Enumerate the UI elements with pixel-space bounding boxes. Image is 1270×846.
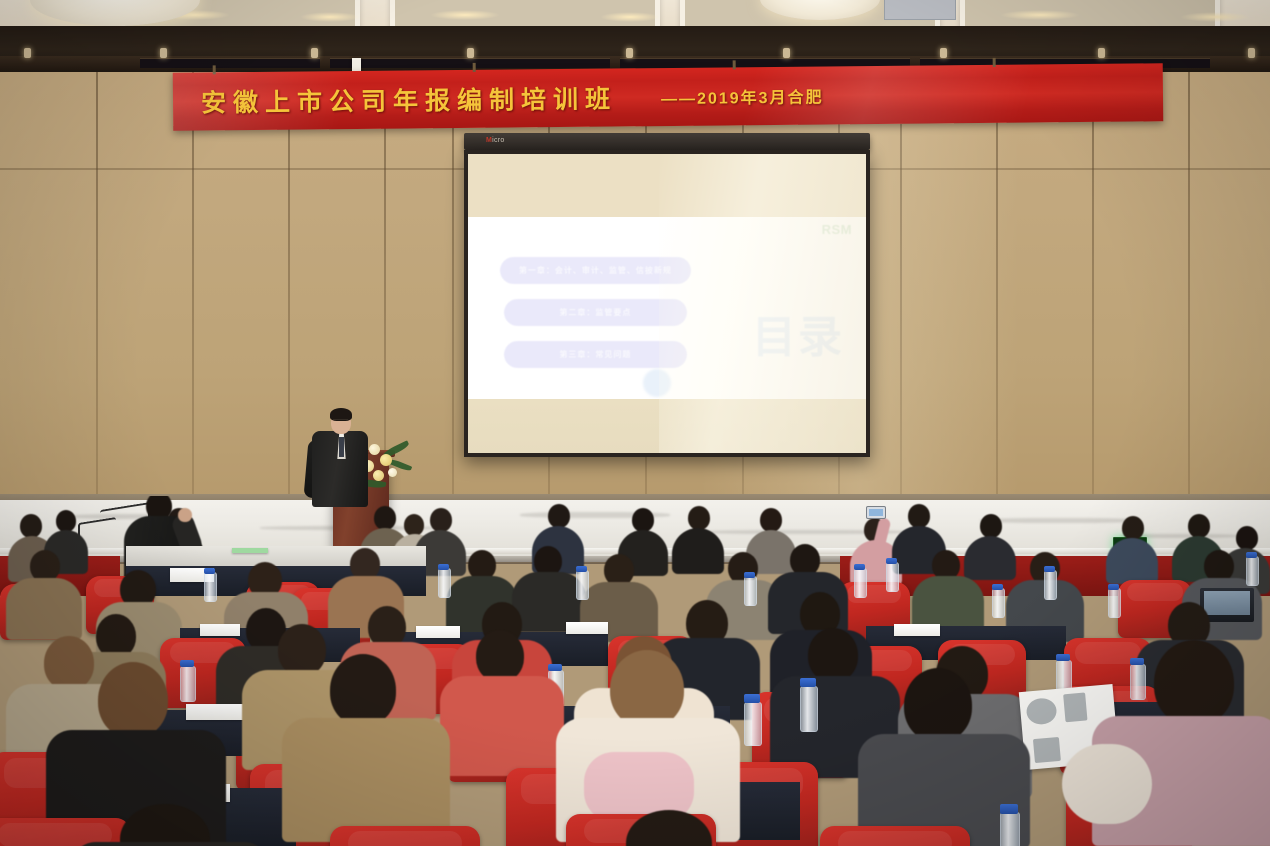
water-bottle bbox=[800, 686, 818, 732]
audience-area bbox=[0, 496, 1270, 846]
chair bbox=[330, 826, 480, 846]
water-bottle bbox=[576, 570, 589, 600]
water-bottle bbox=[180, 666, 196, 702]
banner-title: 安徽上市公司年报编制培训班 bbox=[201, 79, 617, 119]
ceiling-spotlight bbox=[160, 48, 167, 58]
bottle-cap bbox=[1000, 804, 1018, 814]
banner-clip bbox=[733, 60, 736, 69]
ceiling-spotlight bbox=[24, 48, 31, 58]
head-table bbox=[126, 546, 426, 568]
ceiling-light bbox=[430, 10, 500, 20]
ceiling-vent bbox=[884, 0, 956, 20]
projection-screen: RSM 目录 第一章：会计、审计、监管、信披新规 第二章：监管要点 第三章：常见… bbox=[464, 150, 870, 457]
phone-screen bbox=[869, 509, 883, 516]
water-bottle bbox=[438, 568, 451, 598]
screen-surface: RSM 目录 第一章：会计、审计、监管、信披新规 第二章：监管要点 第三章：常见… bbox=[468, 154, 866, 453]
rose-cream bbox=[369, 444, 380, 455]
rose-yellow bbox=[380, 454, 392, 466]
ceiling-spotlight bbox=[940, 48, 947, 58]
banner-subtitle: ——2019年3月合肥 bbox=[661, 84, 824, 110]
bottle-cap bbox=[744, 572, 755, 578]
bottle-cap bbox=[576, 566, 587, 572]
speaker-glasses bbox=[333, 419, 348, 424]
paper bbox=[200, 624, 240, 636]
booklet-figure bbox=[1025, 697, 1057, 726]
water-bottle bbox=[854, 568, 867, 598]
paper bbox=[186, 704, 244, 720]
ceiling-light bbox=[300, 12, 360, 22]
light-track bbox=[330, 58, 610, 68]
ceiling-spotlight bbox=[1248, 48, 1255, 58]
water-bottle bbox=[744, 702, 762, 746]
water-bottle bbox=[992, 588, 1005, 618]
laptop-screen bbox=[1204, 591, 1250, 615]
ceiling-spotlight bbox=[1098, 48, 1105, 58]
paper bbox=[232, 548, 268, 553]
bottle-cap bbox=[854, 564, 865, 570]
screen-brand-logo: Micro bbox=[486, 137, 505, 144]
water-bottle bbox=[1000, 812, 1020, 846]
banner-clip bbox=[213, 65, 216, 74]
smartphone bbox=[866, 506, 886, 519]
water-bottle bbox=[744, 576, 757, 606]
rose-white bbox=[388, 468, 397, 477]
ceiling-spotlight bbox=[467, 48, 474, 58]
bottle-cap bbox=[204, 568, 215, 574]
chair bbox=[820, 826, 970, 846]
ceiling-light bbox=[1000, 10, 1080, 20]
water-bottle bbox=[1246, 556, 1259, 586]
booklet-figure bbox=[1063, 692, 1087, 722]
bottle-cap bbox=[886, 558, 897, 564]
wall-seam bbox=[1188, 72, 1190, 502]
speaker-tie bbox=[339, 437, 344, 457]
rose-yellow bbox=[373, 470, 384, 481]
bottle-cap bbox=[1130, 658, 1144, 665]
ceiling-light bbox=[1180, 12, 1250, 22]
bottle-cap bbox=[1044, 566, 1055, 572]
water-bottle bbox=[204, 572, 217, 602]
water-bottle bbox=[1130, 664, 1146, 700]
bottle-cap bbox=[992, 584, 1003, 590]
ceiling-spotlight bbox=[311, 48, 318, 58]
wall-seam bbox=[1092, 72, 1094, 502]
bottle-cap bbox=[1246, 552, 1257, 558]
event-banner: 安徽上市公司年报编制培训班 ——2019年3月合肥 bbox=[173, 63, 1164, 131]
water-bottle bbox=[886, 562, 899, 592]
projector-screen-case: Micro bbox=[464, 133, 870, 150]
bottle-cap bbox=[180, 660, 194, 667]
light-track bbox=[140, 58, 320, 68]
conference-photo: 安徽上市公司年报编制培训班 ——2019年3月合肥 Micro RSM 目录 第… bbox=[0, 0, 1270, 846]
wall-seam bbox=[192, 72, 194, 502]
bottle-cap bbox=[744, 694, 760, 703]
water-bottle bbox=[1108, 588, 1121, 618]
paper bbox=[416, 626, 460, 638]
bottle-cap bbox=[800, 678, 816, 687]
wall-seam bbox=[96, 72, 98, 502]
wall-seam bbox=[288, 72, 290, 502]
screen-glare bbox=[659, 154, 866, 453]
wall-seam bbox=[452, 72, 454, 502]
ceiling-spotlight bbox=[626, 48, 633, 58]
banner-clip bbox=[473, 63, 476, 72]
ceiling-light bbox=[600, 12, 660, 22]
bottle-cap bbox=[438, 564, 449, 570]
booklet-figure bbox=[1033, 737, 1061, 763]
bottle-cap bbox=[1108, 584, 1119, 590]
paper bbox=[566, 622, 608, 634]
water-bottle bbox=[1044, 570, 1057, 600]
bottle-cap bbox=[1056, 654, 1070, 661]
wall-seam bbox=[384, 72, 386, 502]
paper bbox=[894, 624, 940, 636]
bottle-cap bbox=[548, 664, 562, 671]
banner-clip bbox=[993, 58, 996, 67]
ceiling-spotlight bbox=[783, 48, 790, 58]
